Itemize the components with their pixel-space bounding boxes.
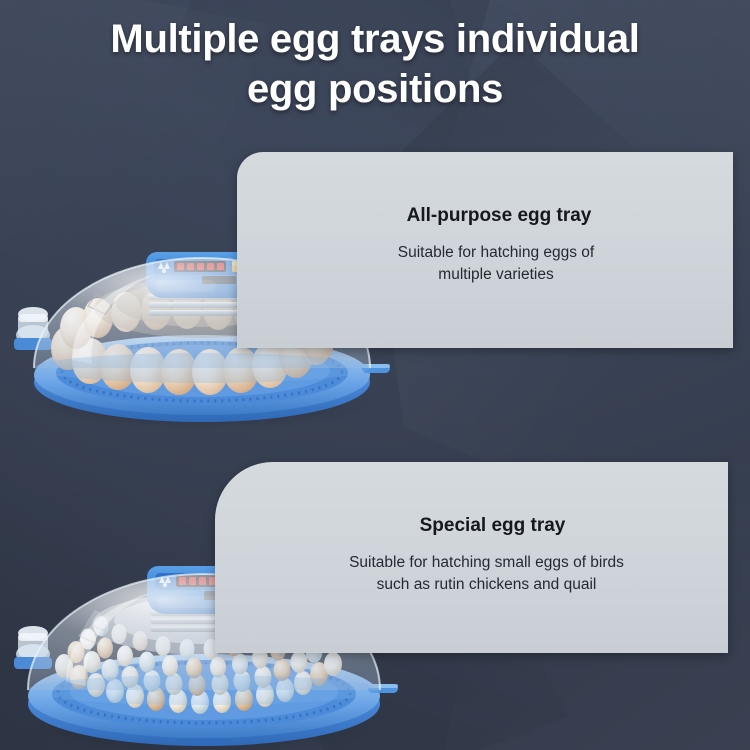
info-card-special: Special egg tray Suitable for hatching s…	[215, 462, 728, 653]
dome-base-seal	[34, 353, 370, 383]
title-line-2: egg positions	[0, 64, 750, 114]
card-description-line-2: such as rutin chickens and quail	[269, 574, 704, 596]
page-title: Multiple egg trays individual egg positi…	[0, 14, 750, 114]
card-description: Suitable for hatching eggs of multiple v…	[271, 242, 699, 286]
title-line-1: Multiple egg trays individual	[110, 17, 639, 61]
card-title: Special egg tray	[239, 514, 704, 538]
card-description-line-1: Suitable for hatching small eggs of bird…	[269, 552, 704, 574]
card-description-line-1: Suitable for hatching eggs of	[293, 242, 699, 264]
card-title: All-purpose egg tray	[271, 204, 699, 228]
card-description-line-2: multiple varieties	[293, 264, 699, 286]
card-description: Suitable for hatching small eggs of bird…	[239, 552, 704, 596]
dome-base-seal	[28, 675, 380, 705]
promo-image: Multiple egg trays individual egg positi…	[0, 0, 750, 750]
info-card-all-purpose: All-purpose egg tray Suitable for hatchi…	[237, 152, 733, 348]
